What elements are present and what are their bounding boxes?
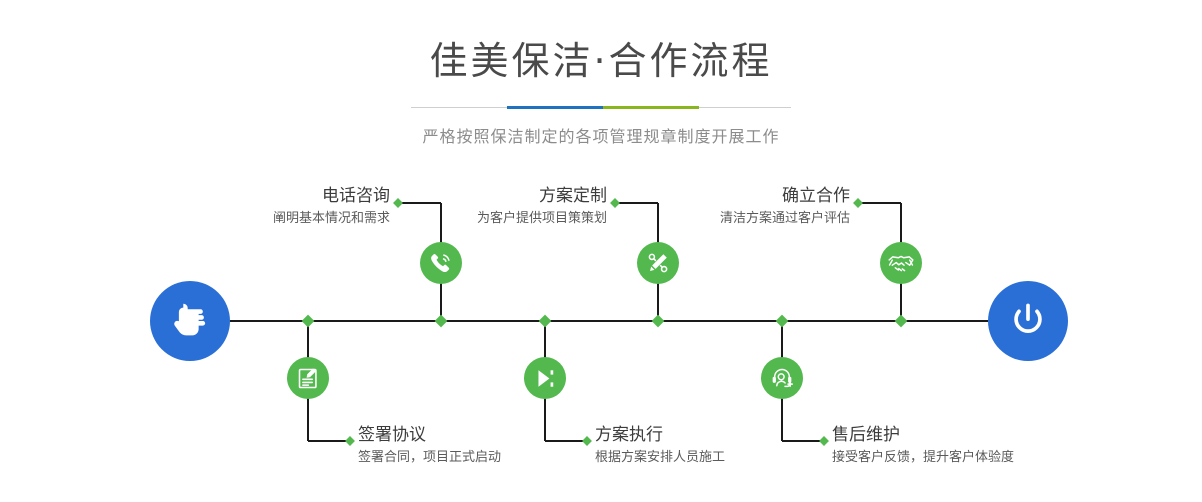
step-title-3: 方案定制	[340, 187, 607, 207]
axis-diamond-5	[895, 315, 908, 328]
step-title-5: 确立合作	[580, 187, 850, 207]
power-icon	[1006, 299, 1050, 343]
phone-call-icon	[428, 250, 454, 276]
step-title-6: 售后维护	[832, 426, 1132, 446]
pointing-hand-icon	[167, 298, 213, 344]
document-edit-icon	[296, 366, 321, 391]
step-node-4[interactable]	[524, 357, 566, 399]
axis-diamond-6	[776, 315, 789, 328]
step-node-1[interactable]	[420, 242, 462, 284]
step-node-2[interactable]	[287, 357, 329, 399]
play-skip-icon	[533, 366, 558, 391]
support-agent-icon	[769, 365, 795, 391]
end-node-power[interactable]	[988, 281, 1068, 361]
label-diamond-2	[345, 436, 355, 446]
axis-diamond-4	[539, 315, 552, 328]
axis-diamond-2	[302, 315, 315, 328]
label-diamond-5	[853, 198, 863, 208]
step-label-6: 售后维护 接受客户反馈，提升客户体验度	[832, 426, 1132, 465]
flow-diagram-canvas: 佳美保洁·合作流程 严格按照保洁制定的各项管理规章制度开展工作	[0, 0, 1202, 502]
step-desc-5: 清洁方案通过客户评估	[580, 212, 850, 227]
step-label-5: 确立合作 清洁方案通过客户评估	[580, 187, 850, 226]
step-desc-6: 接受客户反馈，提升客户体验度	[832, 451, 1132, 466]
axis-diamond-3	[652, 315, 665, 328]
step-desc-3: 为客户提供项目策策划	[340, 212, 607, 227]
step-node-3[interactable]	[637, 242, 679, 284]
step-node-5[interactable]	[880, 242, 922, 284]
step-label-3: 方案定制 为客户提供项目策策划	[340, 187, 607, 226]
handshake-icon	[887, 249, 915, 277]
axis-diamond-1	[435, 315, 448, 328]
pencil-design-icon	[645, 250, 671, 276]
start-node-pointing-hand[interactable]	[150, 281, 230, 361]
step-node-6[interactable]	[761, 357, 803, 399]
